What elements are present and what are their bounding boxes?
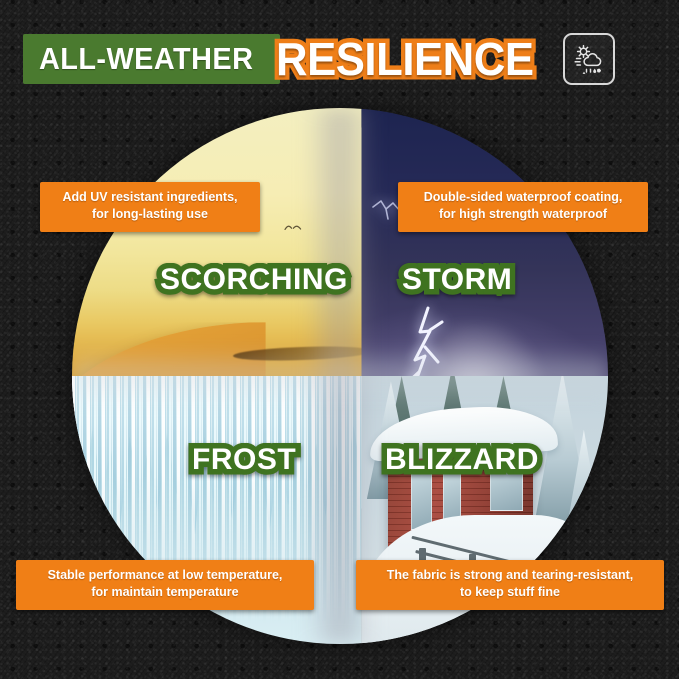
- header-title-primary: ALL-WEATHER: [39, 41, 253, 77]
- callout-blizzard: The fabric is strong and tearing-resista…: [356, 560, 664, 610]
- callout-line: The fabric is strong and tearing-resista…: [367, 567, 653, 584]
- callout-line: for maintain temperature: [27, 584, 303, 601]
- header-title-secondary: RESILIENCE: [276, 34, 533, 84]
- callout-line: to keep stuff fine: [367, 584, 653, 601]
- label-frost: FROST: [192, 443, 296, 477]
- label-scorching: SCORCHING: [160, 263, 348, 297]
- callout-line: Double-sided waterproof coating,: [409, 189, 637, 206]
- callout-line: for long-lasting use: [51, 206, 249, 223]
- label-storm: STORM: [402, 263, 512, 297]
- label-blizzard: BLIZZARD: [385, 443, 539, 477]
- header-banner: ALL-WEATHER RESILIENCE: [23, 33, 615, 85]
- header-green-bar: ALL-WEATHER: [23, 34, 280, 84]
- weather-sun-cloud-rain-icon: [563, 33, 615, 85]
- bird-icon: [284, 218, 302, 225]
- callout-storm: Double-sided waterproof coating, for hig…: [398, 182, 648, 232]
- callout-scorching: Add UV resistant ingredients, for long-l…: [40, 182, 260, 232]
- callout-line: Stable performance at low temperature,: [27, 567, 303, 584]
- callout-line: Add UV resistant ingredients,: [51, 189, 249, 206]
- callout-frost: Stable performance at low temperature, f…: [16, 560, 314, 610]
- poster-canvas: ALL-WEATHER RESILIENCE: [0, 0, 679, 679]
- callout-line: for high strength waterproof: [409, 206, 637, 223]
